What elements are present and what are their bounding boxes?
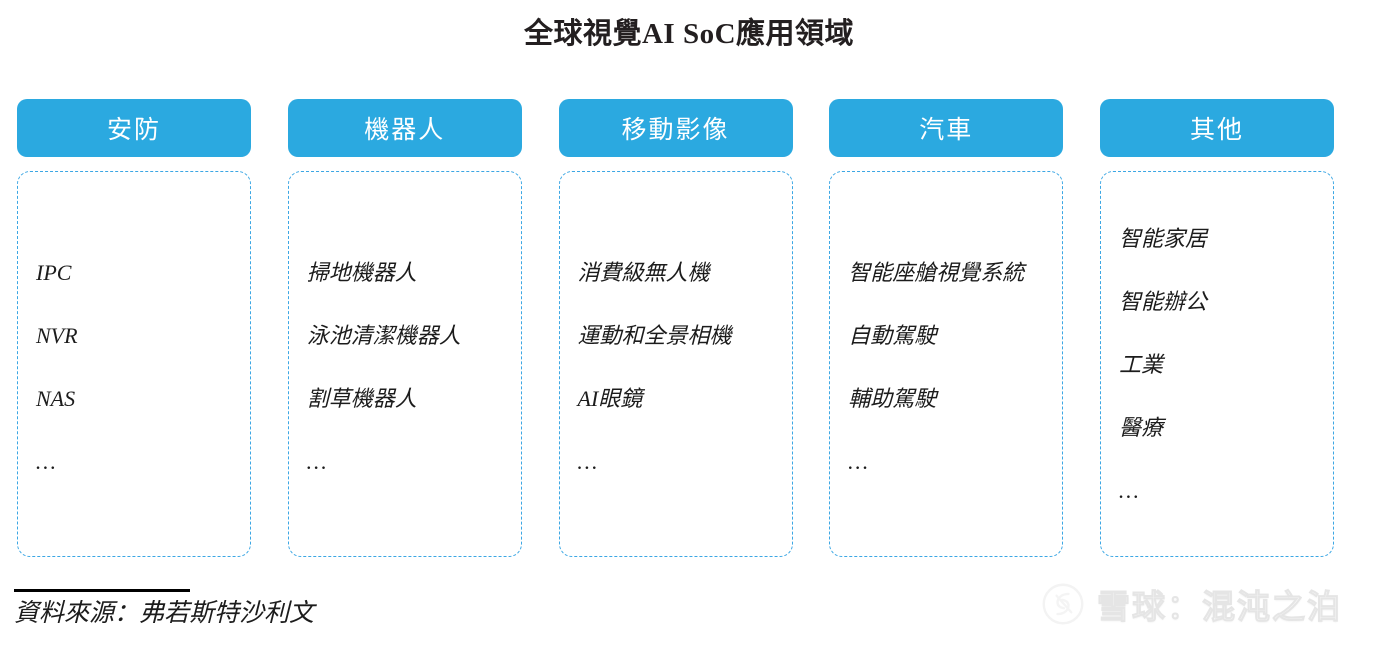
column-header-automotive[interactable]: 汽車 xyxy=(829,99,1063,157)
list-item-ellipsis: … xyxy=(307,430,503,493)
snowball-logo-icon xyxy=(1041,582,1085,626)
list-item: AI眼鏡 xyxy=(578,367,774,430)
list-item: 工業 xyxy=(1119,333,1315,396)
list-item: 自動駕駛 xyxy=(848,304,1044,367)
footer-divider xyxy=(14,589,190,592)
column-header-others[interactable]: 其他 xyxy=(1100,99,1334,157)
list-item: NVR xyxy=(36,304,232,367)
list-item: 消費級無人機 xyxy=(578,241,774,304)
column-body-robotics: 掃地機器人 泳池清潔機器人 割草機器人 … xyxy=(288,171,522,557)
list-item: 醫療 xyxy=(1119,396,1315,459)
column-header-security[interactable]: 安防 xyxy=(17,99,251,157)
column-body-security: IPC NVR NAS … xyxy=(17,171,251,557)
watermark-text: 雪球：混沌之泊 xyxy=(1097,580,1342,628)
list-item-ellipsis: … xyxy=(848,430,1044,493)
column-body-automotive: 智能座艙視覺系統 自動駕駛 輔助駕駛 … xyxy=(829,171,1063,557)
list-item: 運動和全景相機 xyxy=(578,304,774,367)
list-item-ellipsis: … xyxy=(36,430,232,493)
list-item-ellipsis: … xyxy=(578,430,774,493)
list-item: 割草機器人 xyxy=(307,367,503,430)
list-item: 智能辦公 xyxy=(1119,270,1315,333)
list-item: IPC xyxy=(36,241,232,304)
footer: 資料來源：弗若斯特沙利文 xyxy=(14,589,654,630)
list-item: 泳池清潔機器人 xyxy=(307,304,503,367)
column-body-others: 智能家居 智能辦公 工業 醫療 … xyxy=(1100,171,1334,557)
category-board: 安防 IPC NVR NAS … 機器人 掃地機器人 泳池清潔機器人 割草機器人… xyxy=(17,99,1334,557)
category-column-mobile-imaging: 移動影像 消費級無人機 運動和全景相機 AI眼鏡 … xyxy=(559,99,793,557)
list-item: 輔助駕駛 xyxy=(848,367,1044,430)
watermark: 雪球：混沌之泊 xyxy=(1041,580,1342,628)
list-item: NAS xyxy=(36,367,232,430)
list-item-ellipsis: … xyxy=(1119,459,1315,522)
category-column-robotics: 機器人 掃地機器人 泳池清潔機器人 割草機器人 … xyxy=(288,99,522,557)
category-column-automotive: 汽車 智能座艙視覺系統 自動駕駛 輔助駕駛 … xyxy=(829,99,1063,557)
list-item: 掃地機器人 xyxy=(307,241,503,304)
column-header-mobile-imaging[interactable]: 移動影像 xyxy=(559,99,793,157)
category-column-security: 安防 IPC NVR NAS … xyxy=(17,99,251,557)
page-title: 全球視覺AI SoC應用領域 xyxy=(0,14,1378,54)
column-body-mobile-imaging: 消費級無人機 運動和全景相機 AI眼鏡 … xyxy=(559,171,793,557)
column-header-robotics[interactable]: 機器人 xyxy=(288,99,522,157)
list-item: 智能座艙視覺系統 xyxy=(848,241,1044,304)
list-item: 智能家居 xyxy=(1119,207,1315,270)
category-column-others: 其他 智能家居 智能辦公 工業 醫療 … xyxy=(1100,99,1334,557)
source-note: 資料來源：弗若斯特沙利文 xyxy=(14,598,654,630)
